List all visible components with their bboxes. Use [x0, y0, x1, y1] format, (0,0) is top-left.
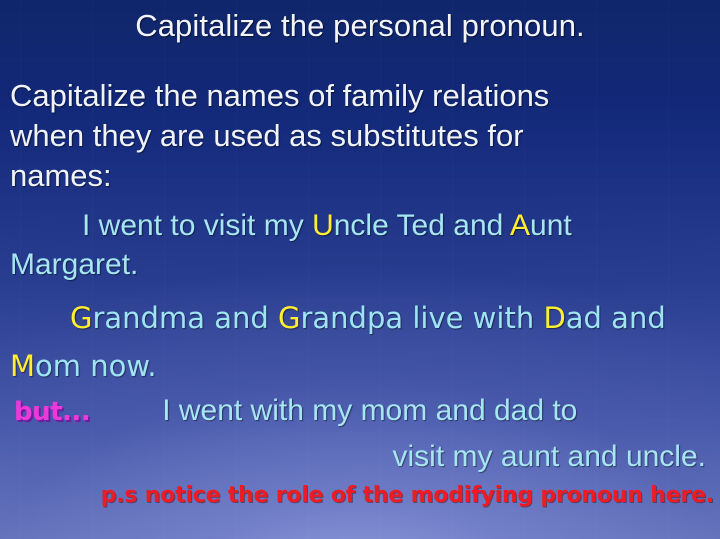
capital-letter-d: D [543, 301, 565, 335]
contrast-text-2: visit my aunt and uncle. [393, 440, 707, 473]
footnote-text: p.s notice the role of the modifying pro… [0, 483, 714, 508]
example-text-fragment: unt [530, 209, 572, 242]
capital-letter-m: M [10, 349, 35, 383]
example-text-fragment: ad and [566, 301, 666, 335]
example-uncle-aunt-line-2: Margaret. [10, 248, 138, 282]
presentation-slide: Capitalize the personal pronoun. Capital… [0, 0, 720, 539]
capital-letter-u: U [312, 209, 334, 242]
capital-letter-a: A [510, 209, 530, 242]
example-grandma-line-1: Grandma and Grandpa live with Dad and [10, 301, 666, 335]
example-grandma-line-2: Mom now. [10, 349, 157, 383]
contrast-text-1: I went with my mom and dad to [162, 394, 577, 427]
example-text-fragment: ncle Ted and [334, 209, 510, 242]
rule-line-2: when they are used as substitutes for [10, 118, 524, 154]
example-text-fragment: randma and [92, 301, 278, 335]
capital-letter-g2: G [278, 301, 300, 335]
rule-line-1: Capitalize the names of family relations [10, 78, 549, 114]
capital-letter-g1: G [70, 301, 92, 335]
contrast-line-1: but...I went with my mom and dad to [14, 394, 577, 428]
example-text-fragment: om now. [35, 349, 157, 383]
contrast-line-2: visit my aunt and uncle. [0, 440, 706, 474]
example-text-fragment: I went to visit my [82, 209, 312, 242]
but-marker: but... [14, 397, 90, 427]
slide-title: Capitalize the personal pronoun. [0, 8, 720, 44]
rule-line-3: names: [10, 158, 112, 194]
example-text-fragment: randpa live with [300, 301, 543, 335]
example-uncle-aunt-line-1: I went to visit my Uncle Ted and Aunt [10, 209, 572, 243]
